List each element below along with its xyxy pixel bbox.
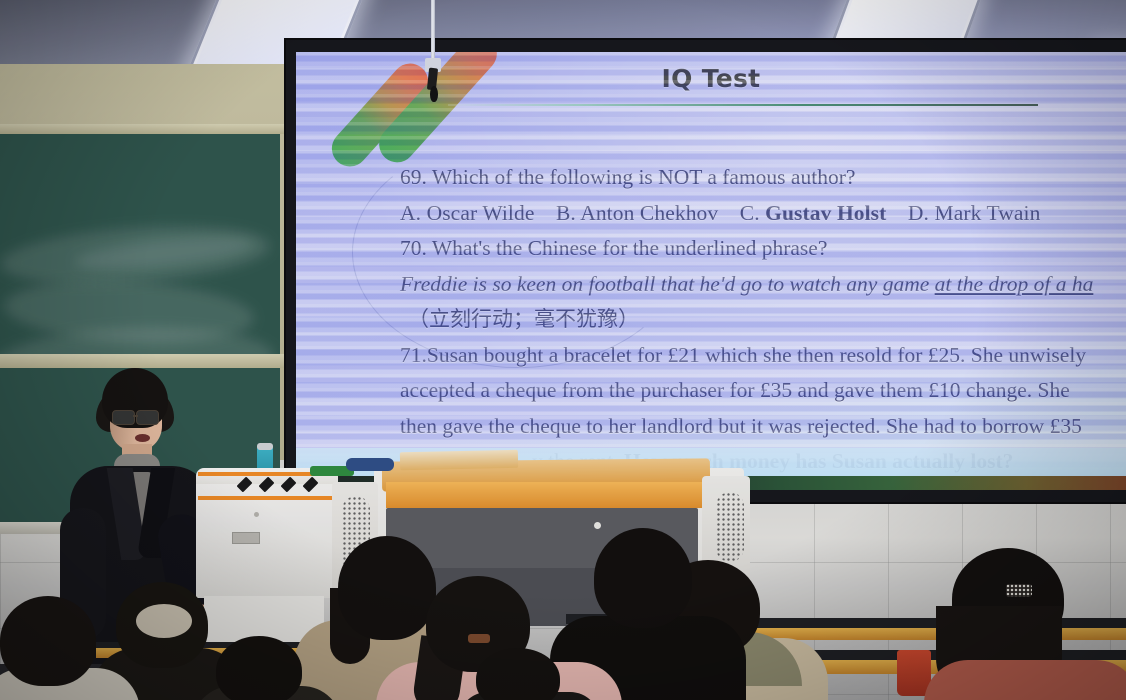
student — [468, 648, 588, 700]
cord-weight — [430, 86, 438, 102]
hair-clip — [1006, 584, 1032, 597]
chalkboard-upper-panel — [0, 132, 280, 354]
teacher-glasses-left — [112, 410, 135, 425]
teacher-glasses-right — [136, 410, 159, 425]
lectern-slot[interactable] — [232, 532, 260, 544]
teacher-mouth — [135, 434, 150, 442]
teacher-glasses-bridge — [133, 415, 138, 417]
blue-item-on-lectern — [346, 458, 394, 471]
chalkboard-rail-mid — [0, 354, 290, 368]
lectern-knob[interactable] — [254, 512, 259, 517]
projector-screen-pull-cord — [431, 0, 435, 62]
student — [930, 548, 1126, 700]
projection-screen[interactable]: IQ Test 69. Which of the following is NO… — [296, 52, 1126, 490]
lectern-wood-front — [386, 482, 708, 508]
book-on-lectern — [400, 450, 518, 470]
lectern-orange-stripe-bottom — [198, 496, 336, 500]
hair-accessory — [136, 604, 192, 638]
student — [206, 636, 332, 700]
student — [0, 596, 130, 700]
hair-clip — [468, 634, 490, 643]
thermos-cap — [257, 443, 273, 450]
chalkboard-rail-top — [0, 124, 290, 134]
classroom-scene: IQ Test 69. Which of the following is NO… — [0, 0, 1126, 700]
projection-moire — [296, 52, 1126, 490]
